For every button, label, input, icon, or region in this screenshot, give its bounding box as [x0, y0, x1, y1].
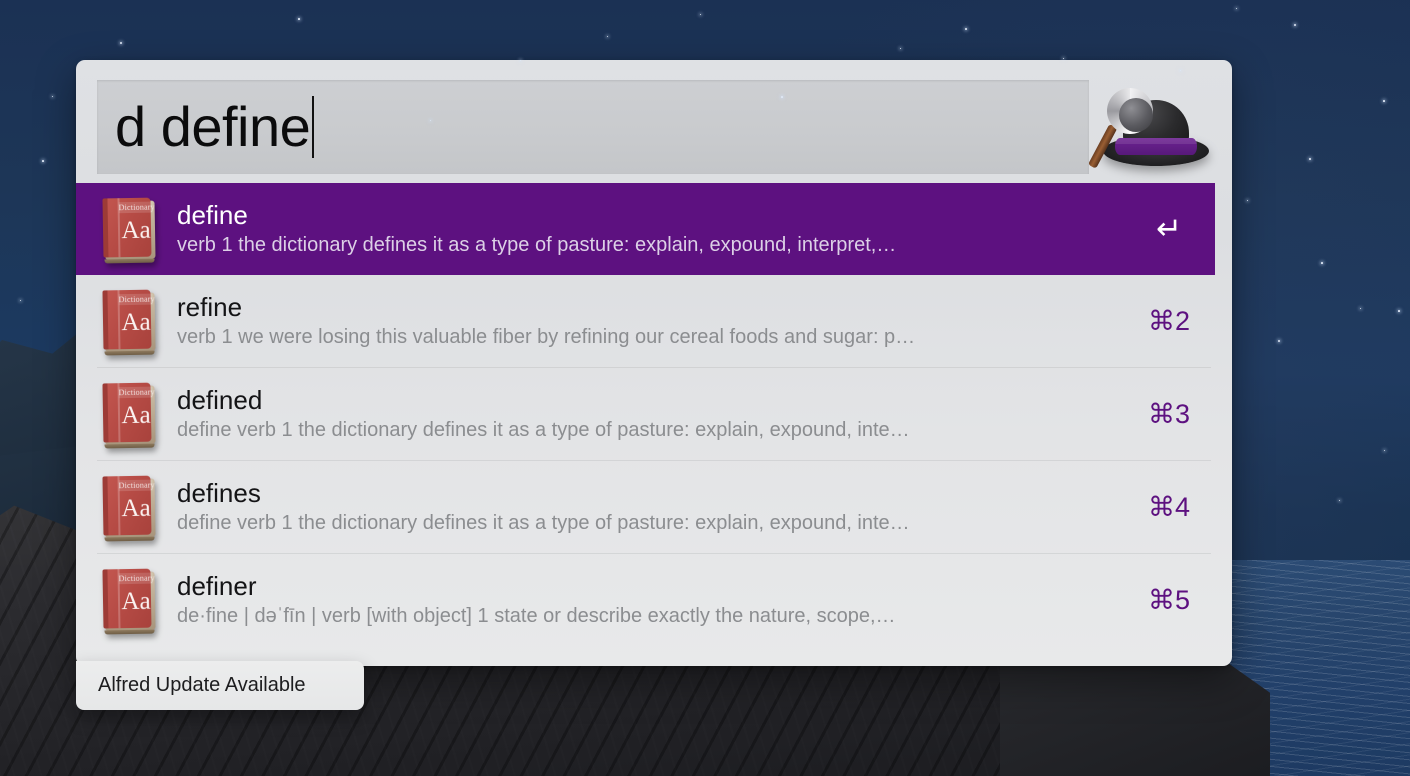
book-glyph: Aa [117, 589, 155, 615]
result-subtitle: verb 1 we were losing this valuable fibe… [177, 324, 1123, 350]
result-shortcut-hint[interactable]: ⌘5 [1123, 585, 1215, 616]
book-shape: Dictionary Aa [102, 383, 157, 446]
star [42, 160, 44, 162]
alfred-hat-icon [1101, 84, 1211, 176]
dictionary-book-icon: Dictionary Aa [97, 472, 163, 542]
book-glyph: Aa [117, 310, 155, 336]
book-label: Dictionary [119, 573, 153, 585]
result-row-defined[interactable]: Dictionary Aa defined define verb 1 the … [76, 368, 1215, 460]
result-subtitle: de·fine | dəˈfīn | verb [with object] 1 … [177, 603, 1123, 629]
book-cover: Dictionary Aa [102, 383, 151, 443]
book-label: Dictionary [119, 294, 153, 306]
book-cover: Dictionary Aa [102, 476, 151, 536]
star [781, 96, 783, 98]
result-text: defined define verb 1 the dictionary def… [177, 385, 1123, 442]
star [1384, 450, 1385, 451]
star [1383, 100, 1385, 102]
magnifier-lens [1119, 98, 1153, 132]
book-shape: Dictionary Aa [102, 569, 157, 632]
star [1247, 200, 1248, 201]
alfred-window: d define Dictionary Aa [76, 60, 1232, 666]
search-row: d define [76, 60, 1232, 176]
star [900, 48, 901, 49]
book-label: Dictionary [119, 387, 153, 399]
star [1236, 8, 1237, 9]
dictionary-book-icon: Dictionary Aa [97, 194, 163, 264]
book-cover: Dictionary Aa [102, 198, 151, 258]
result-title: define [177, 200, 1123, 230]
book-shape: Dictionary Aa [102, 290, 157, 353]
result-subtitle: verb 1 the dictionary defines it as a ty… [177, 232, 1123, 258]
star [607, 36, 608, 37]
result-shortcut-hint[interactable]: ↵ [1123, 211, 1215, 247]
book-bottom-edge [105, 259, 155, 264]
result-row-define[interactable]: Dictionary Aa define verb 1 the dictiona… [76, 183, 1215, 275]
result-title: defined [177, 385, 1123, 415]
result-title: definer [177, 571, 1123, 601]
text-caret [312, 96, 314, 158]
result-title: defines [177, 478, 1123, 508]
result-shortcut-hint[interactable]: ⌘4 [1123, 492, 1215, 523]
book-bottom-edge [105, 351, 155, 356]
book-glyph: Aa [117, 496, 155, 522]
book-label: Dictionary [119, 202, 153, 214]
book-cover: Dictionary Aa [102, 290, 151, 350]
search-input[interactable]: d define [97, 80, 1089, 174]
result-text: refine verb 1 we were losing this valuab… [177, 292, 1123, 349]
book-bottom-edge [105, 444, 155, 449]
star [1278, 340, 1280, 342]
star [1321, 262, 1323, 264]
results-list: Dictionary Aa define verb 1 the dictiona… [76, 183, 1232, 646]
result-subtitle: define verb 1 the dictionary defines it … [177, 510, 1123, 536]
book-glyph: Aa [117, 403, 155, 429]
magnifier-ring [1107, 88, 1153, 134]
book-bottom-edge [105, 630, 155, 635]
result-row-definer[interactable]: Dictionary Aa definer de·fine | dəˈfīn |… [76, 554, 1215, 646]
star [1309, 158, 1311, 160]
star [1398, 310, 1400, 312]
dictionary-book-icon: Dictionary Aa [97, 379, 163, 449]
hat-band [1115, 138, 1197, 155]
star [1294, 24, 1296, 26]
star [700, 14, 701, 15]
star [1360, 308, 1361, 309]
search-input-value: d define [115, 99, 310, 155]
dictionary-book-icon: Dictionary Aa [97, 565, 163, 635]
result-shortcut-hint[interactable]: ⌘3 [1123, 399, 1215, 430]
desktop-wallpaper: d define Dictionary Aa [0, 0, 1410, 776]
star [965, 28, 967, 30]
result-title: refine [177, 292, 1123, 322]
book-shape: Dictionary Aa [102, 198, 157, 261]
result-shortcut-hint[interactable]: ⌘2 [1123, 306, 1215, 337]
update-notification[interactable]: Alfred Update Available [76, 661, 364, 710]
book-shape: Dictionary Aa [102, 476, 157, 539]
star [1339, 500, 1340, 501]
dictionary-book-icon: Dictionary Aa [97, 286, 163, 356]
star [20, 300, 21, 301]
result-text: definer de·fine | dəˈfīn | verb [with ob… [177, 571, 1123, 628]
star [52, 96, 53, 97]
star [120, 42, 122, 44]
result-subtitle: define verb 1 the dictionary defines it … [177, 417, 1123, 443]
result-text: defines define verb 1 the dictionary def… [177, 478, 1123, 535]
result-text: define verb 1 the dictionary defines it … [177, 200, 1123, 257]
star [298, 18, 300, 20]
book-label: Dictionary [119, 480, 153, 492]
update-notification-text: Alfred Update Available [98, 674, 306, 697]
result-row-defines[interactable]: Dictionary Aa defines define verb 1 the … [76, 461, 1215, 553]
book-cover: Dictionary Aa [102, 569, 151, 629]
book-glyph: Aa [117, 218, 155, 244]
book-bottom-edge [105, 537, 155, 542]
result-row-refine[interactable]: Dictionary Aa refine verb 1 we were losi… [76, 275, 1215, 367]
